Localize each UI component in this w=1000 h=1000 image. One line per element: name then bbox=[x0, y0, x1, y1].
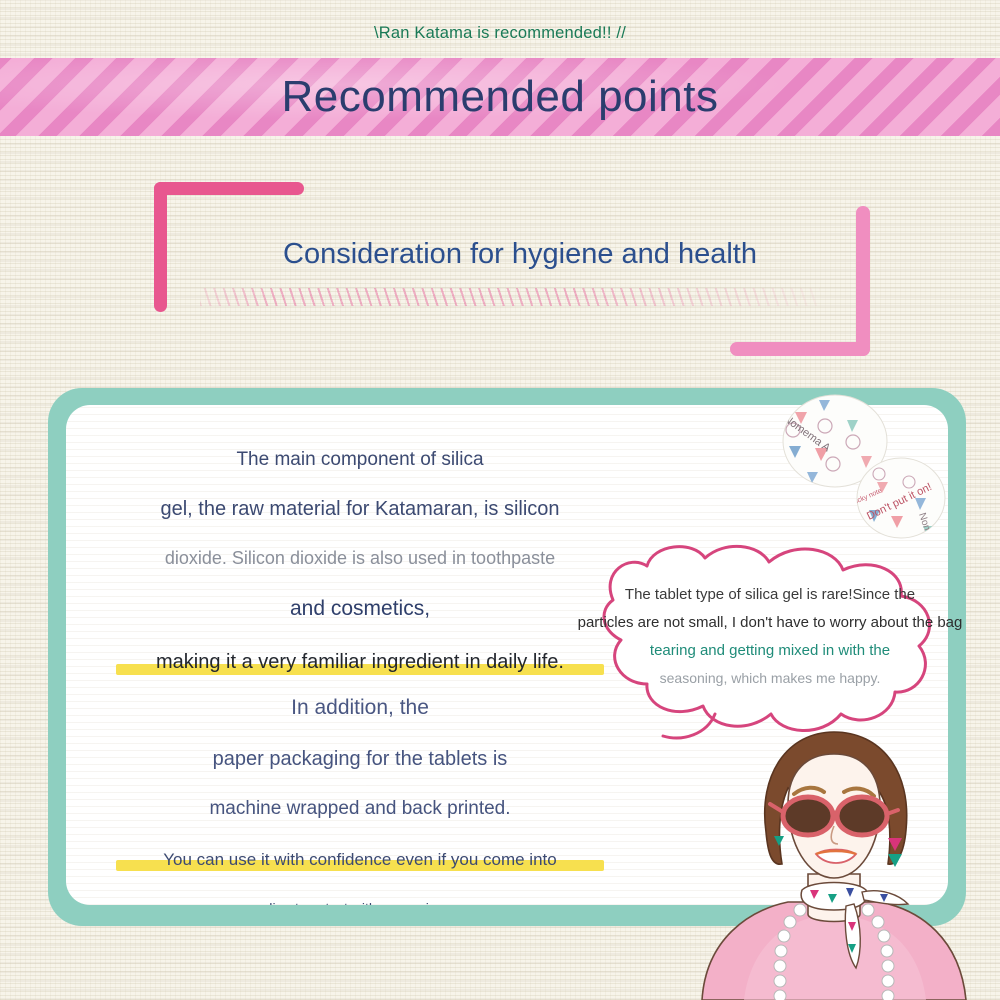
body-line-text: and cosmetics, bbox=[290, 597, 430, 620]
body-line-text: direct contact with seasonings. bbox=[265, 900, 456, 905]
body-line: and cosmetics, bbox=[116, 597, 604, 621]
bubble-line: seasoning, which makes me happy. bbox=[575, 670, 965, 686]
body-line: paper packaging for the tablets is bbox=[116, 748, 604, 771]
banner-title: Recommended points bbox=[0, 58, 1000, 136]
bracket-bottom-right-icon bbox=[725, 206, 870, 356]
bubble-line: The tablet type of silica gel is rare!Si… bbox=[575, 586, 965, 603]
bubble-line: tearing and getting mixed in with the bbox=[575, 642, 965, 659]
recommended-points-banner: Recommended points bbox=[0, 58, 1000, 136]
section-heading: Consideration for hygiene and health bbox=[200, 238, 840, 271]
bubble-text-block: The tablet type of silica gel is rare!Si… bbox=[575, 586, 965, 697]
body-line-highlighted: making it a very familiar ingredient in … bbox=[116, 651, 604, 674]
body-line: machine wrapped and back printed. bbox=[116, 798, 604, 820]
body-line: gel, the raw material for Katamaran, is … bbox=[116, 498, 604, 521]
body-line-text: dioxide. Silicon dioxide is also used in… bbox=[165, 548, 555, 568]
bubble-line: particles are not small, I don't have to… bbox=[575, 614, 965, 631]
body-line-text: paper packaging for the tablets is bbox=[213, 748, 508, 770]
body-line-text: In addition, the bbox=[291, 696, 429, 719]
body-line: dioxide. Silicon dioxide is also used in… bbox=[116, 548, 604, 569]
heading-underline bbox=[200, 288, 820, 306]
body-line-text: gel, the raw material for Katamaran, is … bbox=[160, 498, 559, 520]
body-line: In addition, the bbox=[116, 696, 604, 720]
body-line-text: You can use it with confidence even if y… bbox=[163, 850, 556, 869]
body-line-highlighted: You can use it with confidence even if y… bbox=[116, 850, 604, 870]
body-line: direct contact with seasonings. bbox=[116, 900, 604, 905]
body-line-text: machine wrapped and back printed. bbox=[209, 798, 510, 819]
body-line: The main component of silica bbox=[116, 449, 604, 471]
body-line-text: The main component of silica bbox=[236, 449, 483, 470]
body-line-text: making it a very familiar ingredient in … bbox=[156, 651, 564, 673]
character-illustration bbox=[684, 714, 984, 1000]
tablet-product-photo: Nomema A Sticky note Don't put it on! No… bbox=[773, 386, 955, 548]
section-heading-group: Consideration for hygiene and health bbox=[140, 180, 870, 360]
eyebrow-text: \Ran Katama is recommended!! // bbox=[0, 24, 1000, 43]
